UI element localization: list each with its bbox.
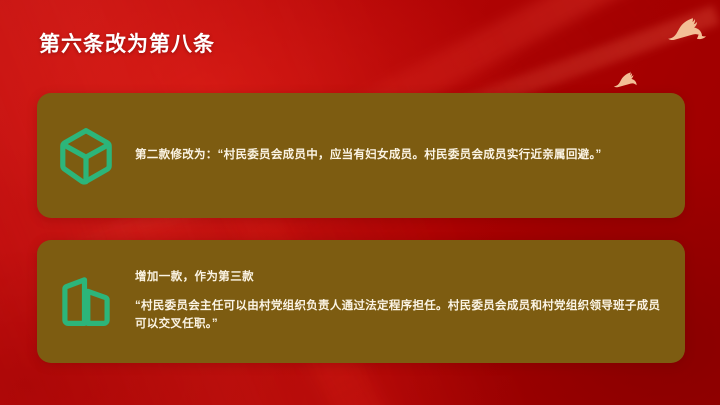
card-body: 第二款修改为：“村民委员会成员中，应当有妇女成员。村民委员会成员实行近亲属回避。… [135,147,685,165]
dove-icon [665,14,709,46]
content-card[interactable]: 增加一款，作为第三款 “村民委员会主任可以由村党组织负责人通过法定程序担任。村民… [37,240,685,363]
card-heading: 增加一款，作为第三款 [135,269,661,286]
page-title: 第六条改为第八条 [39,28,215,58]
slide-canvas: 第六条改为第八条 第二款修改为：“村民委员会成员中，应当有妇女成员。村民委员会成… [0,0,720,405]
content-card[interactable]: 第二款修改为：“村民委员会成员中，应当有妇女成员。村民委员会成员实行近亲属回避。… [37,93,685,218]
card-text: 第二款修改为：“村民委员会成员中，应当有妇女成员。村民委员会成员实行近亲属回避。… [135,147,661,165]
buildings-icon [37,273,135,331]
card-text: “村民委员会主任可以由村党组织负责人通过法定程序担任。村民委员会成员和村党组织领… [135,298,661,334]
dove-icon [612,70,640,92]
cube-icon [37,127,135,185]
card-body: 增加一款，作为第三款 “村民委员会主任可以由村党组织负责人通过法定程序担任。村民… [135,269,685,334]
